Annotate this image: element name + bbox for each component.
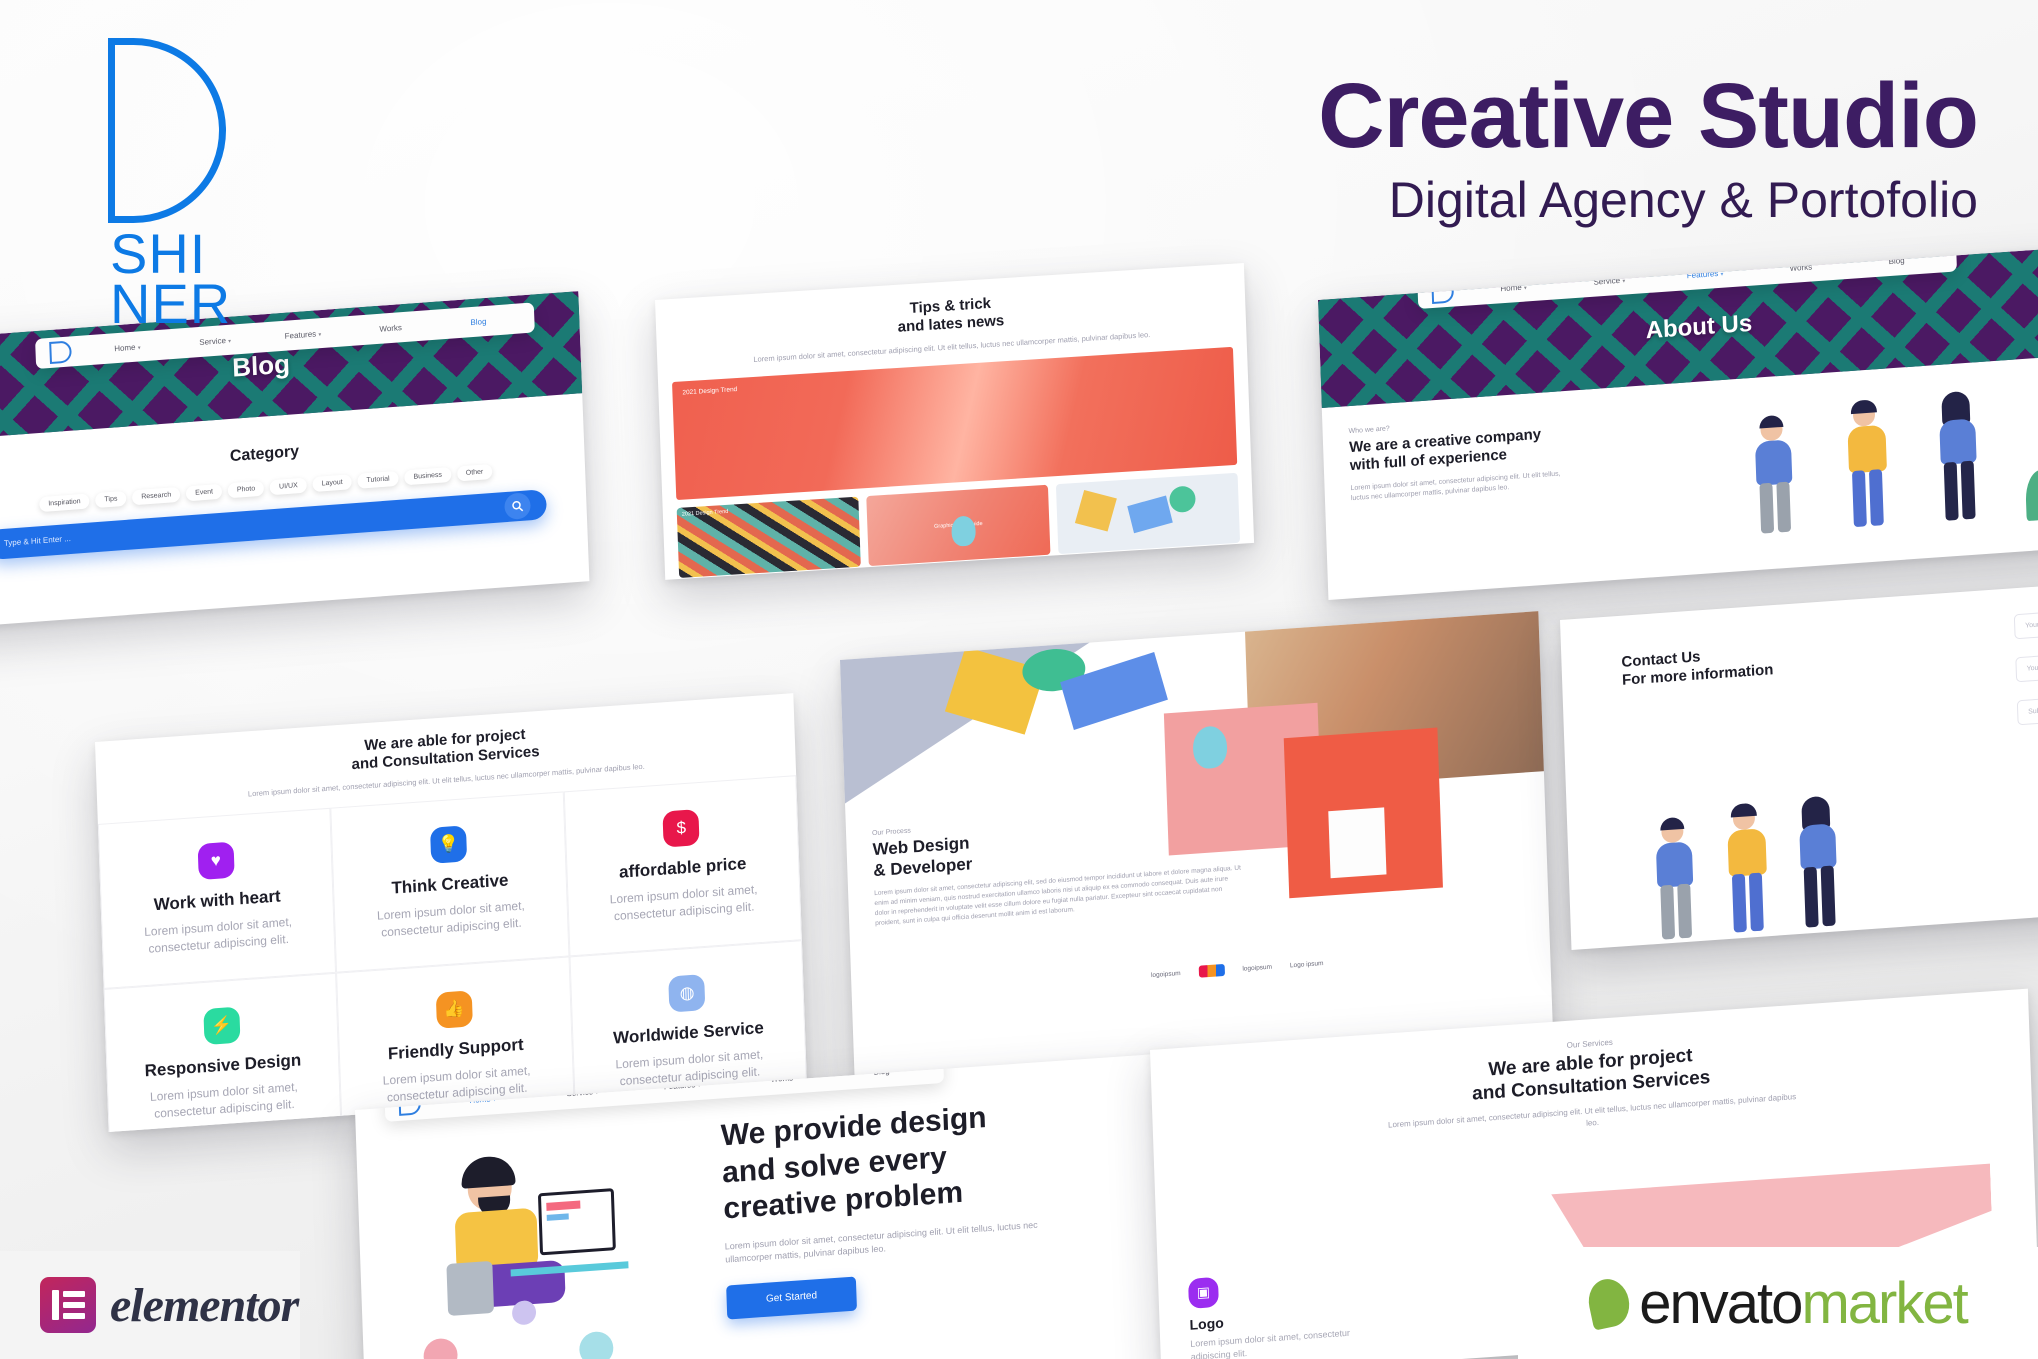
globe-icon: ◍ <box>668 974 705 1013</box>
chevron-down-icon: ▾ <box>318 332 321 338</box>
blog-tag[interactable]: Other <box>457 463 493 481</box>
service-card-body: Lorem ipsum dolor sit amet, consectetur … <box>586 879 782 927</box>
navbar-logo-icon <box>49 340 72 364</box>
person-1 <box>1747 417 1805 541</box>
badge-pink-icon <box>423 1337 458 1359</box>
logo-ner-text: NER <box>110 276 231 332</box>
service-card-title: Work with heart <box>153 886 281 915</box>
person-1 <box>1647 819 1705 945</box>
logo-card-icon: ▣ <box>1188 1277 1219 1309</box>
search-input[interactable]: Type & Hit Enter ... <box>4 534 71 548</box>
blog-tag[interactable]: Photo <box>228 480 265 498</box>
elementor-wordmark: elementor <box>110 1278 298 1333</box>
envato-word-1: envato <box>1639 1271 1801 1336</box>
service-card-body: Lorem ipsum dolor sit amet, consectetur … <box>126 1077 322 1125</box>
badge-lilac-icon <box>512 1300 537 1326</box>
envato-wordmark: envatomarket <box>1639 1270 1966 1337</box>
slide-services-grid[interactable]: We are able for project and Consultation… <box>95 693 807 1132</box>
page-title: Creative Studio <box>1318 68 1978 165</box>
client-logo-2: logoipsum <box>1242 963 1272 972</box>
person-3 <box>1930 392 1988 528</box>
monitor-icon <box>538 1188 616 1255</box>
search-icon[interactable] <box>504 492 531 520</box>
slide-contact[interactable]: Contact Us For more information <box>1560 577 2038 950</box>
our-services-logo-card[interactable]: ▣ Logo Lorem ipsum dolor sit amet, conse… <box>1188 1267 1361 1359</box>
client-logo-colors-icon <box>1198 964 1224 978</box>
nav-item-service[interactable]: Service ▾ <box>173 333 257 348</box>
thumb3-shape-b <box>1127 496 1173 534</box>
elementor-badge: elementor <box>0 1251 300 1359</box>
service-card-body: Lorem ipsum dolor sit amet, consectetur … <box>120 912 316 960</box>
service-card-title: Friendly Support <box>388 1034 524 1063</box>
person-hair-icon <box>461 1155 516 1189</box>
person-2 <box>1718 806 1778 940</box>
chevron-down-icon: ▾ <box>228 338 231 344</box>
slide-blog[interactable]: Blog Category InspirationTipsResearchEve… <box>0 291 589 628</box>
services-card-grid: ♥Work with heartLorem ipsum dolor sit am… <box>98 775 807 1132</box>
thumbs-up-icon: 👍 <box>436 990 473 1029</box>
brand-logo[interactable]: SHI NER <box>80 38 310 308</box>
contact-form[interactable]: Your Name Your Email Subject <box>2014 600 2038 726</box>
tips-thumb-1[interactable]: 2021 Design Trend <box>677 496 861 577</box>
mouse-shape-icon <box>951 516 976 547</box>
heart-icon: ♥ <box>197 841 234 880</box>
tips-thumb-2[interactable]: Graphic User Guide <box>866 485 1050 566</box>
blog-tag[interactable]: Business <box>404 466 451 484</box>
tips-thumb-3[interactable] <box>1056 473 1240 554</box>
devices-icon: ⚡ <box>203 1006 240 1045</box>
chevron-down-icon: ▾ <box>138 345 141 351</box>
badge-teal-icon <box>579 1331 614 1359</box>
nav-item-works[interactable]: Works <box>349 320 433 335</box>
price-tag-icon: $ <box>663 809 700 848</box>
blog-tag[interactable]: Layout <box>312 474 352 492</box>
contact-people-illustration <box>1636 778 1881 945</box>
service-card-title: Responsive Design <box>144 1050 301 1081</box>
person-3 <box>1790 797 1849 935</box>
thumb3-shape-c <box>1169 485 1196 513</box>
service-card-title: affordable price <box>619 854 747 883</box>
service-card[interactable]: $affordable priceLorem ipsum dolor sit a… <box>563 775 802 956</box>
chair-icon <box>446 1261 494 1316</box>
blog-tag[interactable]: Research <box>132 486 180 505</box>
service-card-title: Worldwide Service <box>613 1018 764 1049</box>
service-card-title: Think Creative <box>391 870 509 898</box>
title-block: Creative Studio Digital Agency & Portofo… <box>1318 68 1978 229</box>
about-people-illustration <box>1726 379 2038 542</box>
envato-leaf-icon <box>1585 1275 1634 1330</box>
tips-thumb-1-label: 2021 Design Trend <box>682 509 729 518</box>
contact-field-subject[interactable]: Subject <box>2017 686 2038 726</box>
page-subtitle: Digital Agency & Portofolio <box>1318 171 1978 229</box>
person-2 <box>1838 402 1898 534</box>
plant-leaf-icon <box>2025 469 2038 521</box>
envato-badge: envatomarket <box>1518 1247 2038 1359</box>
nav-item-home[interactable]: Home ▾ <box>85 340 169 355</box>
service-card[interactable]: ⚡Responsive DesignLorem ipsum dolor sit … <box>104 972 343 1132</box>
hero-cta-label: Get Started <box>766 1291 817 1306</box>
lightbulb-icon: 💡 <box>430 825 467 864</box>
client-logo-1: logoipsum <box>1151 970 1181 979</box>
blog-tag[interactable]: Inspiration <box>39 493 90 512</box>
logo-d-icon <box>108 38 226 223</box>
blog-tag[interactable]: UI/UX <box>270 477 307 495</box>
blog-tag[interactable]: Event <box>186 483 222 501</box>
client-logo-3: Logo ipsum <box>1290 960 1324 969</box>
blog-tag[interactable]: Tutorial <box>357 470 399 488</box>
envato-word-2: market <box>1801 1271 1966 1336</box>
collage-white-block <box>1328 807 1386 878</box>
service-card[interactable]: 💡Think CreativeLorem ipsum dolor sit ame… <box>331 791 570 972</box>
contact-field-email[interactable]: Your Email <box>2015 643 2038 683</box>
thumb3-shape-a <box>1075 490 1117 531</box>
hero-illustration <box>397 1138 705 1359</box>
service-card-body: Lorem ipsum dolor sit amet, consectetur … <box>353 896 549 944</box>
hero-cta-button[interactable]: Get Started <box>726 1276 857 1319</box>
blog-tag[interactable]: Tips <box>95 490 126 507</box>
tips-hero-badge: 2021 Design Trend <box>682 386 737 396</box>
slide-process[interactable]: Our Process Web Design & Developer Lorem… <box>840 611 1553 1080</box>
header: SHI NER Creative Studio Digital Agency &… <box>0 0 2038 320</box>
nav-item-features[interactable]: Features ▾ <box>261 327 345 342</box>
elementor-icon <box>40 1277 96 1333</box>
service-card[interactable]: ♥Work with heartLorem ipsum dolor sit am… <box>98 808 337 989</box>
